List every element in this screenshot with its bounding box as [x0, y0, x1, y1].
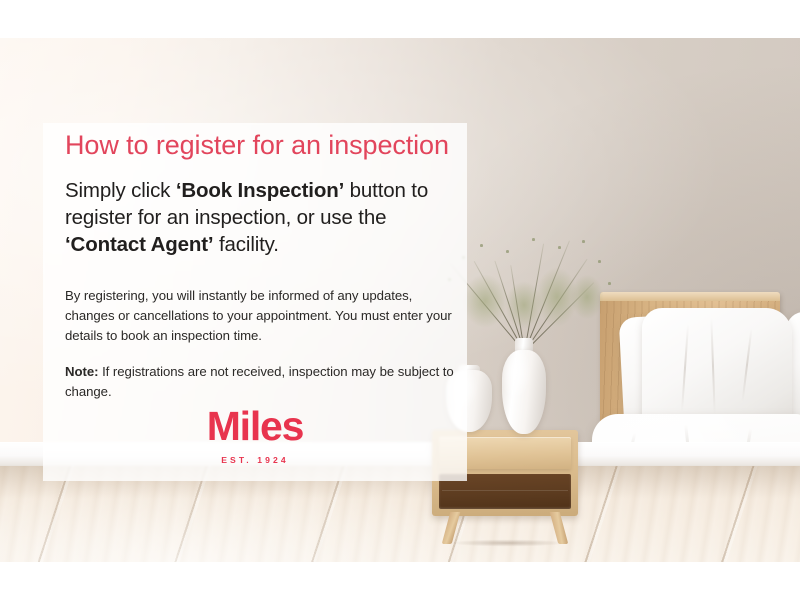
pillow-crease — [741, 328, 752, 402]
leaf-dot — [608, 282, 611, 285]
intro-part-3: facility. — [213, 233, 278, 256]
pillow-crease — [681, 324, 689, 412]
bedroom-scene-image: How to register for an inspection Simply… — [0, 38, 800, 562]
contact-agent-emphasis: ‘Contact Agent’ — [65, 233, 213, 256]
logo-wordmark: Miles — [43, 406, 467, 447]
foliage-cluster — [564, 266, 610, 328]
dried-branches — [440, 226, 620, 352]
intro-part-1: Simply click — [65, 179, 176, 202]
leaf-dot — [480, 244, 483, 247]
leaf-dot — [558, 246, 561, 249]
registration-paragraph: By registering, you will instantly be in… — [65, 286, 457, 346]
vase-tall — [502, 350, 546, 434]
note-text: If registrations are not received, inspe… — [65, 364, 454, 399]
leaf-dot — [532, 238, 535, 241]
panel-content: How to register for an inspection Simply… — [65, 130, 457, 402]
nightstand-shelf-line — [442, 490, 568, 491]
intro-text: Simply click ‘Book Inspection’ button to… — [65, 178, 457, 258]
brand-logo: Miles EST. 1924 — [43, 406, 467, 465]
logo-established: EST. 1924 — [43, 456, 467, 465]
leaf-dot — [506, 250, 509, 253]
page-title: How to register for an inspection — [65, 130, 457, 160]
pillow-crease — [710, 318, 715, 414]
bed-headboard-top-edge — [600, 292, 780, 301]
note-label: Note: — [65, 364, 98, 379]
note-paragraph: Note: If registrations are not received,… — [65, 362, 457, 402]
screenshot-canvas: How to register for an inspection Simply… — [0, 0, 800, 600]
leaf-dot — [582, 240, 585, 243]
leaf-dot — [598, 260, 601, 263]
book-inspection-emphasis: ‘Book Inspection’ — [176, 179, 344, 202]
